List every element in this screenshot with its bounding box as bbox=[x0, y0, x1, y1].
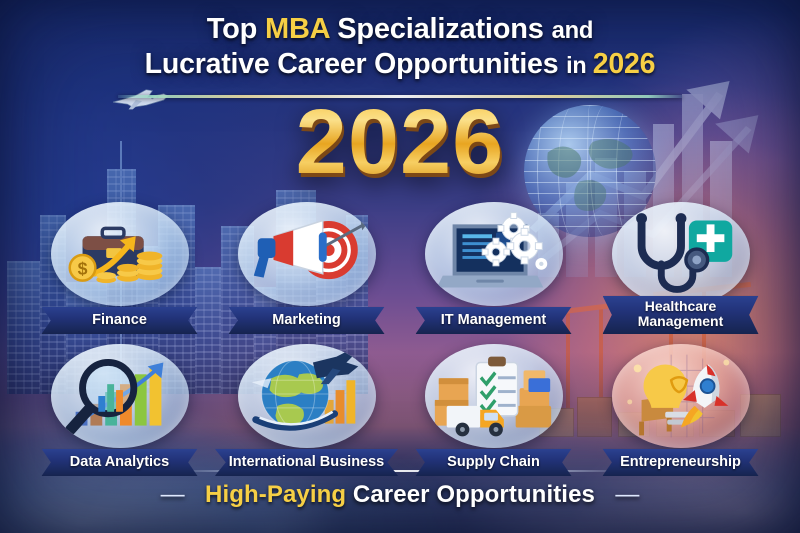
badge-label-bar: Data Analytics bbox=[42, 449, 198, 476]
briefcase-coins-arrow-icon: $ bbox=[51, 202, 189, 306]
badge-label: Supply Chain bbox=[430, 454, 558, 470]
headline-text-pre: Top bbox=[207, 13, 265, 45]
svg-text:$: $ bbox=[77, 259, 87, 279]
megaphone-target-icon bbox=[238, 202, 376, 306]
headline-text-and: and bbox=[552, 17, 594, 44]
badge-label-line-1: Healthcare bbox=[615, 299, 747, 315]
badge-finance[interactable]: $ Finance bbox=[32, 202, 207, 334]
badge-international-business[interactable]: International Business bbox=[219, 344, 394, 476]
badge-label-line-2: Management bbox=[615, 314, 747, 330]
badge-label-bar: Marketing bbox=[229, 307, 385, 334]
badge-label-bar: Healthcare Management bbox=[603, 296, 759, 334]
stethoscope-medical-cross-icon bbox=[612, 202, 750, 306]
big-year-2026: 2026 bbox=[0, 96, 800, 188]
footer-tagline: — High-Paying Career Opportunities — bbox=[0, 481, 800, 509]
magnifier-bar-chart-icon bbox=[51, 344, 189, 448]
badge-label: IT Management bbox=[430, 312, 558, 328]
badge-marketing[interactable]: Marketing bbox=[219, 202, 394, 334]
specializations-grid: $ Finance bbox=[0, 202, 800, 476]
specializations-row-2: Data Analytics bbox=[0, 344, 800, 476]
headline-line-1: Top MBA Specializations and bbox=[60, 12, 740, 47]
badge-label: Data Analytics bbox=[56, 454, 184, 470]
badge-label: Marketing bbox=[243, 312, 371, 328]
badge-label: International Business bbox=[229, 454, 385, 470]
badge-label-bar: International Business bbox=[215, 449, 399, 476]
footer-highlight: High-Paying bbox=[205, 481, 346, 508]
headline-year-highlight: 2026 bbox=[593, 48, 656, 80]
infographic-poster: Top MBA Specializations and Lucrative Ca… bbox=[0, 0, 800, 533]
headline-text-mid: Specializations bbox=[329, 13, 551, 45]
headline-line2-in: in bbox=[566, 52, 593, 78]
badge-supply-chain[interactable]: Supply Chain bbox=[406, 344, 581, 476]
badge-label-bar: IT Management bbox=[416, 307, 572, 334]
badge-label-bar: Entrepreneurship bbox=[603, 449, 759, 476]
dash-right: — bbox=[615, 481, 639, 508]
badge-entrepreneurship[interactable]: Entrepreneurship bbox=[593, 344, 768, 476]
badge-it-management[interactable]: IT Management bbox=[406, 202, 581, 334]
page-title: Top MBA Specializations and Lucrative Ca… bbox=[0, 12, 800, 82]
badge-label: Entrepreneurship bbox=[617, 454, 745, 470]
badge-label: Finance bbox=[56, 312, 184, 328]
laptop-gears-icon bbox=[425, 202, 563, 306]
footer-rest: Career Opportunities bbox=[353, 481, 595, 508]
badge-label-bar: Finance bbox=[42, 307, 198, 334]
headline-mba-highlight: MBA bbox=[265, 13, 329, 45]
dash-left: — bbox=[161, 481, 185, 508]
headline-line-2: Lucrative Career Opportunities in 2026 bbox=[60, 47, 740, 82]
specializations-row-1: $ Finance bbox=[0, 202, 800, 334]
globe-airplane-chart-icon bbox=[238, 344, 376, 448]
badge-label-bar: Supply Chain bbox=[416, 449, 572, 476]
boxes-clipboard-truck-icon bbox=[425, 344, 563, 448]
headline-line2-pre: Lucrative Career Opportunities bbox=[145, 48, 566, 80]
badge-healthcare-management[interactable]: Healthcare Management bbox=[593, 202, 768, 334]
lightbulb-rocket-icon bbox=[612, 344, 750, 448]
badge-data-analytics[interactable]: Data Analytics bbox=[32, 344, 207, 476]
